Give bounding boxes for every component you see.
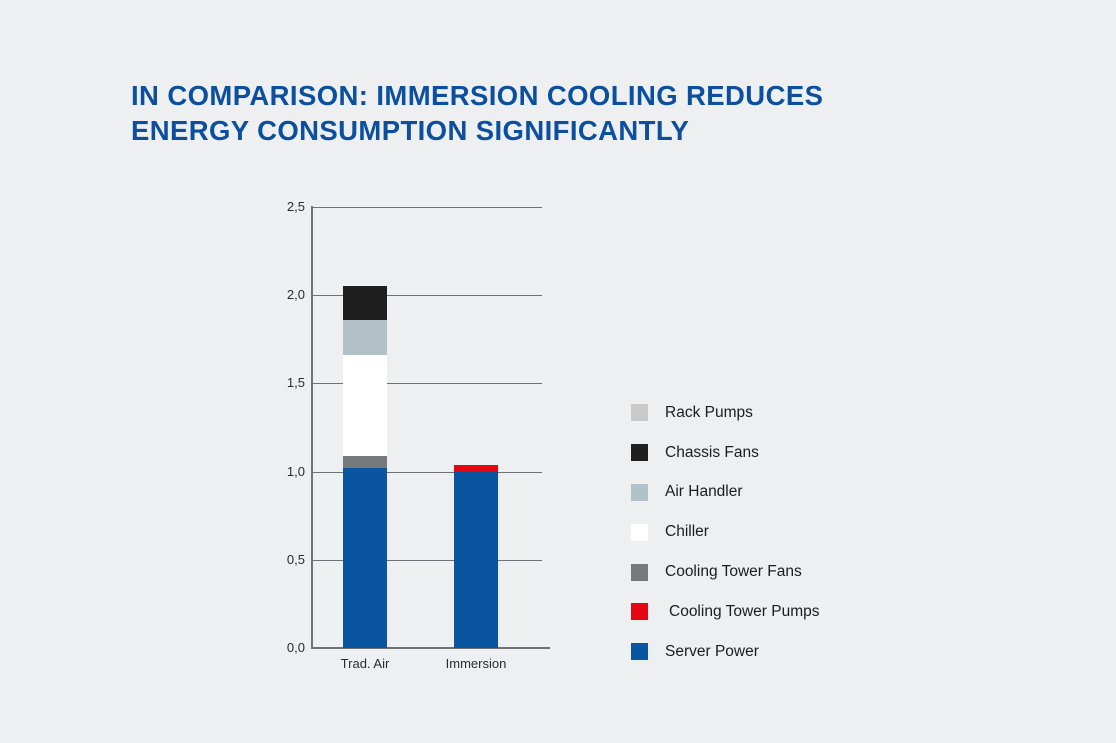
legend-label: Chassis Fans [665,444,759,462]
bar-segment-chassis-fans[interactable] [343,286,387,320]
legend-swatch [631,603,648,620]
bar-segment-server-power[interactable] [343,468,387,648]
legend-item-server-power[interactable]: Server Power [631,632,819,672]
legend-item-chassis-fans[interactable]: Chassis Fans [631,433,819,473]
bar-segment-cooling-tower-pumps[interactable] [454,465,498,472]
legend-item-cooling-tower-fans[interactable]: Cooling Tower Fans [631,552,819,592]
y-tick-label: 2,5 [265,199,305,214]
bar-segment-server-power[interactable] [454,472,498,648]
y-tick-label: 0,5 [265,552,305,567]
legend-item-rack-pumps[interactable]: Rack Pumps [631,393,819,433]
y-tick-label: 1,5 [265,375,305,390]
legend-item-chiller[interactable]: Chiller [631,512,819,552]
legend-swatch [631,564,648,581]
y-tick-label: 0,0 [265,640,305,655]
legend-swatch [631,484,648,501]
bar-segment-chiller[interactable] [343,355,387,456]
legend-item-air-handler[interactable]: Air Handler [631,473,819,513]
legend-swatch [631,444,648,461]
slide-canvas: IN COMPARISON: IMMERSION COOLING REDUCES… [0,0,1116,743]
y-tick-label: 2,0 [265,287,305,302]
chart-legend: Rack PumpsChassis FansAir HandlerChiller… [631,393,819,672]
y-axis-line [311,206,313,649]
legend-swatch [631,643,648,660]
legend-label: Server Power [665,643,759,661]
bar-immersion[interactable] [454,207,498,648]
legend-swatch [631,524,648,541]
legend-label: Rack Pumps [665,404,753,422]
legend-label: Cooling Tower Pumps [669,603,819,621]
bar-segment-air-handler[interactable] [343,320,387,355]
category-label: Immersion [416,656,536,671]
legend-label: Air Handler [665,483,743,501]
legend-label: Chiller [665,523,709,541]
legend-swatch [631,404,648,421]
bar-segment-cooling-tower-fans[interactable] [343,456,387,468]
legend-label: Cooling Tower Fans [665,563,802,581]
bar-trad-air[interactable] [343,207,387,648]
legend-item-cooling-tower-pumps[interactable]: Cooling Tower Pumps [631,592,819,632]
stacked-bar-chart: 0,00,51,01,52,02,5 Trad. AirImmersion [0,0,1116,743]
y-tick-label: 1,0 [265,464,305,479]
category-label: Trad. Air [305,656,425,671]
